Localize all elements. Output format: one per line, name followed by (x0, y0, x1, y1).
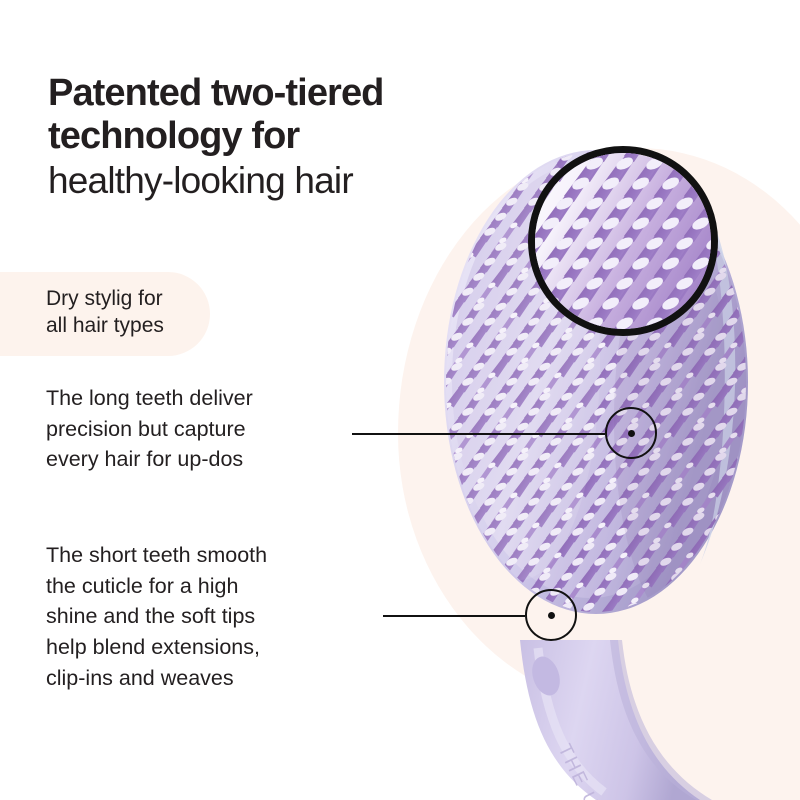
headline-light-line: healthy-looking hair (48, 160, 548, 203)
dry-styling-badge: Dry stylig for all hair types (0, 272, 210, 356)
callout-short-teeth: The short teeth smooth the cuticle for a… (46, 540, 376, 694)
callout-line: precision but capture (46, 414, 376, 445)
callout-line: clip-ins and weaves (46, 663, 376, 694)
badge-line-2: all hair types (46, 313, 164, 340)
short-teeth-marker (525, 589, 577, 641)
callout-line: The long teeth deliver (46, 383, 376, 414)
headline-bold-line-1: Patented two-tiered (48, 72, 548, 115)
callout-line: The short teeth smooth (46, 540, 376, 571)
magnifier-contents (528, 146, 718, 336)
marker-dot-icon (548, 612, 555, 619)
marker-dot-icon (628, 430, 635, 437)
headline: Patented two-tiered technology for healt… (48, 72, 548, 203)
bristle-closeup-magnifier (528, 146, 718, 336)
headline-bold-line-2: technology for (48, 115, 548, 158)
infographic-canvas: THE U (0, 0, 800, 800)
brush-handle: THE U (520, 640, 712, 800)
leader-line-long-teeth (352, 433, 605, 435)
badge-line-1: Dry stylig for (46, 286, 164, 313)
callout-line: the cuticle for a high (46, 571, 376, 602)
leader-line-short-teeth (383, 615, 525, 617)
long-teeth-marker (605, 407, 657, 459)
callout-long-teeth: The long teeth deliver precision but cap… (46, 383, 376, 475)
callout-line: shine and the soft tips (46, 601, 376, 632)
callout-line: help blend extensions, (46, 632, 376, 663)
callout-line: every hair for up-dos (46, 444, 376, 475)
